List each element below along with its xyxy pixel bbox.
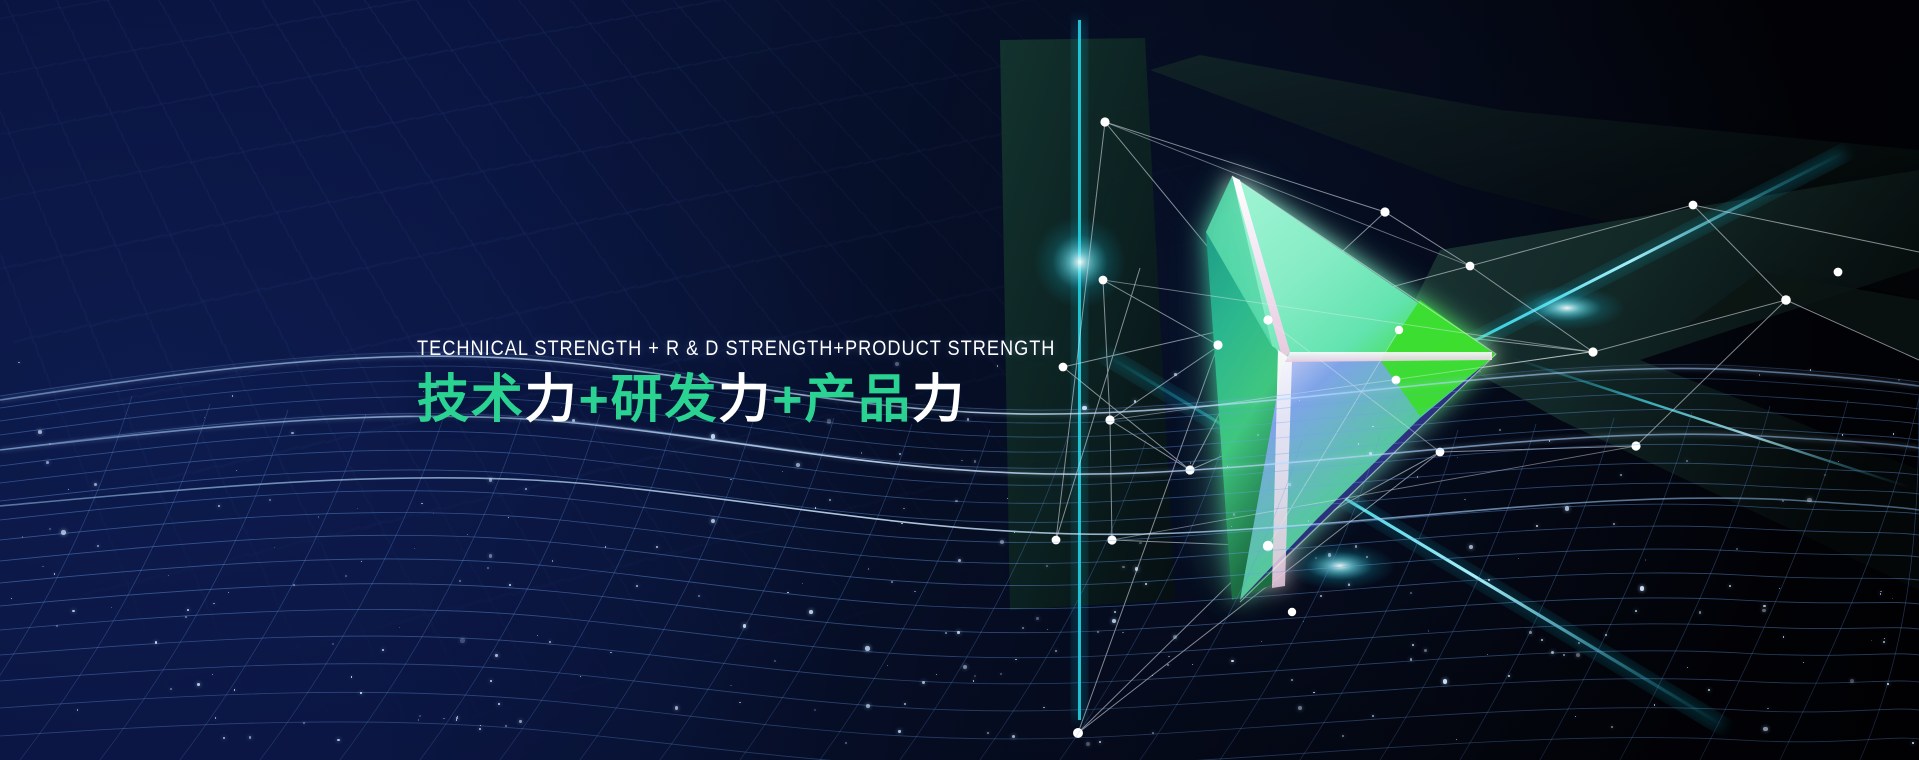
hero-eyebrow: TECHNICAL STRENGTH + R & D STRENGTH+PROD… xyxy=(417,338,1059,360)
headline-seg-li-2: 力 xyxy=(718,371,772,429)
headline-seg-product: 产品 xyxy=(804,371,912,429)
dark-geometry-group xyxy=(1000,38,1919,610)
headline-seg-li-3: 力 xyxy=(912,371,966,429)
headline-plus-2: + xyxy=(772,371,804,429)
network-nodes xyxy=(1052,117,1843,738)
network-lines xyxy=(1056,122,1919,733)
headline-seg-rd: 研发 xyxy=(611,371,719,429)
hero-copy: TECHNICAL STRENGTH + R & D STRENGTH+PROD… xyxy=(417,338,1177,428)
play-arrow-prism xyxy=(1206,176,1496,602)
hero-banner: (function(){ var host = document.current… xyxy=(0,0,1919,760)
headline-seg-technical: 技术 xyxy=(417,371,525,429)
headline-seg-li-1: 力 xyxy=(525,371,579,429)
hero-headline: 技术力+研发力+产品力 xyxy=(417,373,1177,428)
headline-plus-1: + xyxy=(578,371,610,429)
network-overlay-lines xyxy=(1103,122,1636,546)
